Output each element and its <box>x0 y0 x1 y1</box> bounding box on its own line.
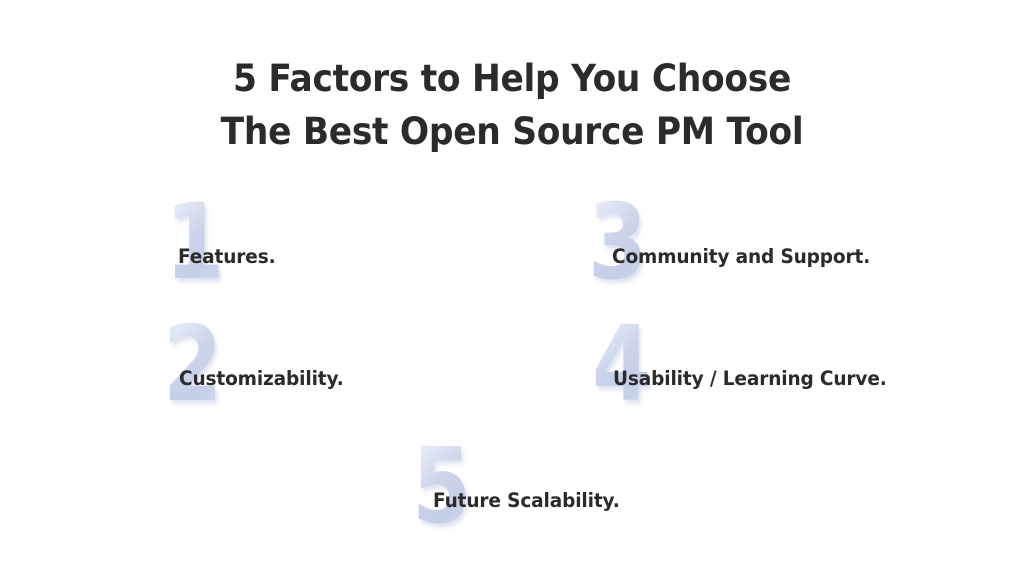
page-title-line-1: 5 Factors to Help You Choose <box>36 52 988 105</box>
factor-label-4: Usability / Learning Curve. <box>613 368 887 390</box>
page-title: 5 Factors to Help You Choose The Best Op… <box>0 52 1024 158</box>
slide-canvas: 5 Factors to Help You Choose The Best Op… <box>0 0 1024 577</box>
page-title-line-2: The Best Open Source PM Tool <box>36 105 988 158</box>
factor-label-5: Future Scalability. <box>433 490 620 512</box>
factor-number-4: 4 <box>592 312 650 416</box>
factor-number-5: 5 <box>412 434 470 538</box>
factor-number-3: 3 <box>588 190 646 294</box>
factor-label-1: Features. <box>178 246 275 268</box>
factor-number-2: 2 <box>163 312 221 416</box>
factor-label-3: Community and Support. <box>612 246 870 268</box>
factor-number-1: 1 <box>165 190 223 294</box>
factor-label-2: Customizability. <box>179 368 344 390</box>
